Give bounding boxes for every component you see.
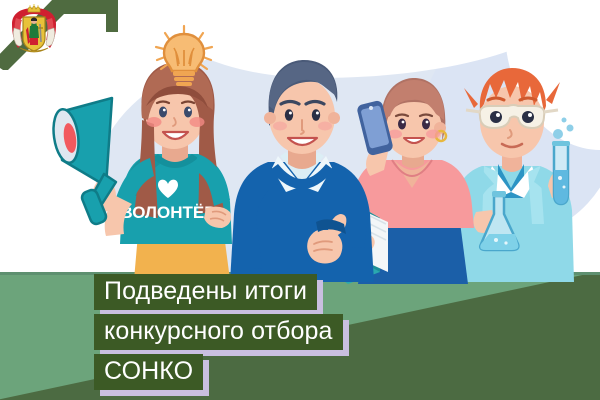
headline-line-3: СОНКО (94, 354, 203, 390)
character-volunteer-woman: ВОЛОНТЁР (46, 58, 236, 280)
headline-banner: Подведены итоги конкурсного отбора СОНКО (94, 274, 343, 390)
headline-line-2: конкурсного отбора (94, 314, 343, 350)
poster-canvas: ВОЛОНТЁР (0, 0, 600, 400)
volunteer-shirt-text: ВОЛОНТЁР (120, 203, 215, 222)
headline-line-1: Подведены итоги (94, 274, 317, 310)
ryazan-oblast-coat-of-arms (8, 4, 60, 56)
lightbulb-icon (148, 22, 220, 88)
test-tube-icon (552, 118, 574, 205)
character-student-man (222, 52, 382, 282)
